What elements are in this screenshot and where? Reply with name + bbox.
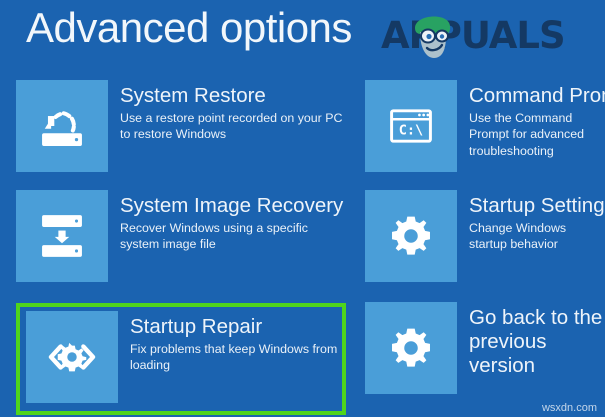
command-prompt-window-icon: C:\ [365, 80, 457, 172]
option-text-system-image-recovery: System Image Recovery Recover Windows us… [108, 190, 346, 253]
option-text-system-restore: System Restore Use a restore point recor… [108, 80, 346, 143]
option-tile-system-image-recovery[interactable]: System Image Recovery Recover Windows us… [16, 190, 346, 300]
restore-drive-icon [16, 80, 108, 172]
options-column-left: System Restore Use a restore point recor… [16, 80, 346, 300]
option-description: Use the Command Prompt for advanced trou… [469, 110, 605, 160]
option-tile-startup-settings[interactable]: Startup Settings Change Windows startup … [365, 190, 605, 300]
option-tile-system-restore[interactable]: System Restore Use a restore point recor… [16, 80, 346, 190]
option-description: Recover Windows using a specific system … [120, 220, 346, 253]
option-title: System Restore [120, 84, 346, 108]
header: Advanced options APPUALS [0, 0, 605, 72]
option-title: Startup Repair [130, 315, 342, 339]
appuals-mascot-face-icon [409, 8, 455, 60]
option-text-go-back-previous-version: Go back to the previous version [457, 302, 605, 380]
option-text-startup-repair: Startup Repair Fix problems that keep Wi… [118, 311, 342, 374]
option-description: Fix problems that keep Windows from load… [130, 341, 342, 374]
selection-highlight-box: Startup Repair Fix problems that keep Wi… [16, 303, 346, 415]
site-watermark: wsxdn.com [542, 402, 597, 414]
option-tile-startup-repair[interactable]: Startup Repair Fix problems that keep Wi… [20, 307, 342, 411]
option-title: System Image Recovery [120, 194, 346, 218]
image-recovery-drive-icon [16, 190, 108, 282]
gear-icon [365, 302, 457, 394]
option-text-command-prompt: Command Prompt Use the Command Prompt fo… [457, 80, 605, 159]
option-tile-command-prompt[interactable]: C:\ Command Prompt Use the Command Promp… [365, 80, 605, 190]
option-description: Use a restore point recorded on your PC … [120, 110, 346, 143]
option-title: Go back to the previous version [469, 306, 605, 378]
svg-text:C:\: C:\ [399, 122, 423, 138]
option-text-startup-settings: Startup Settings Change Windows startup … [457, 190, 605, 253]
options-column-right: C:\ Command Prompt Use the Command Promp… [365, 80, 605, 412]
page-title: Advanced options [26, 4, 352, 52]
appuals-brand-logo: APPUALS [381, 6, 605, 64]
option-title: Startup Settings [469, 194, 605, 218]
option-description: Change Windows startup behavior [469, 220, 605, 253]
gear-brackets-icon [26, 311, 118, 403]
option-title: Command Prompt [469, 84, 605, 108]
gear-icon [365, 190, 457, 282]
option-tile-go-back-previous-version[interactable]: Go back to the previous version [365, 302, 605, 412]
